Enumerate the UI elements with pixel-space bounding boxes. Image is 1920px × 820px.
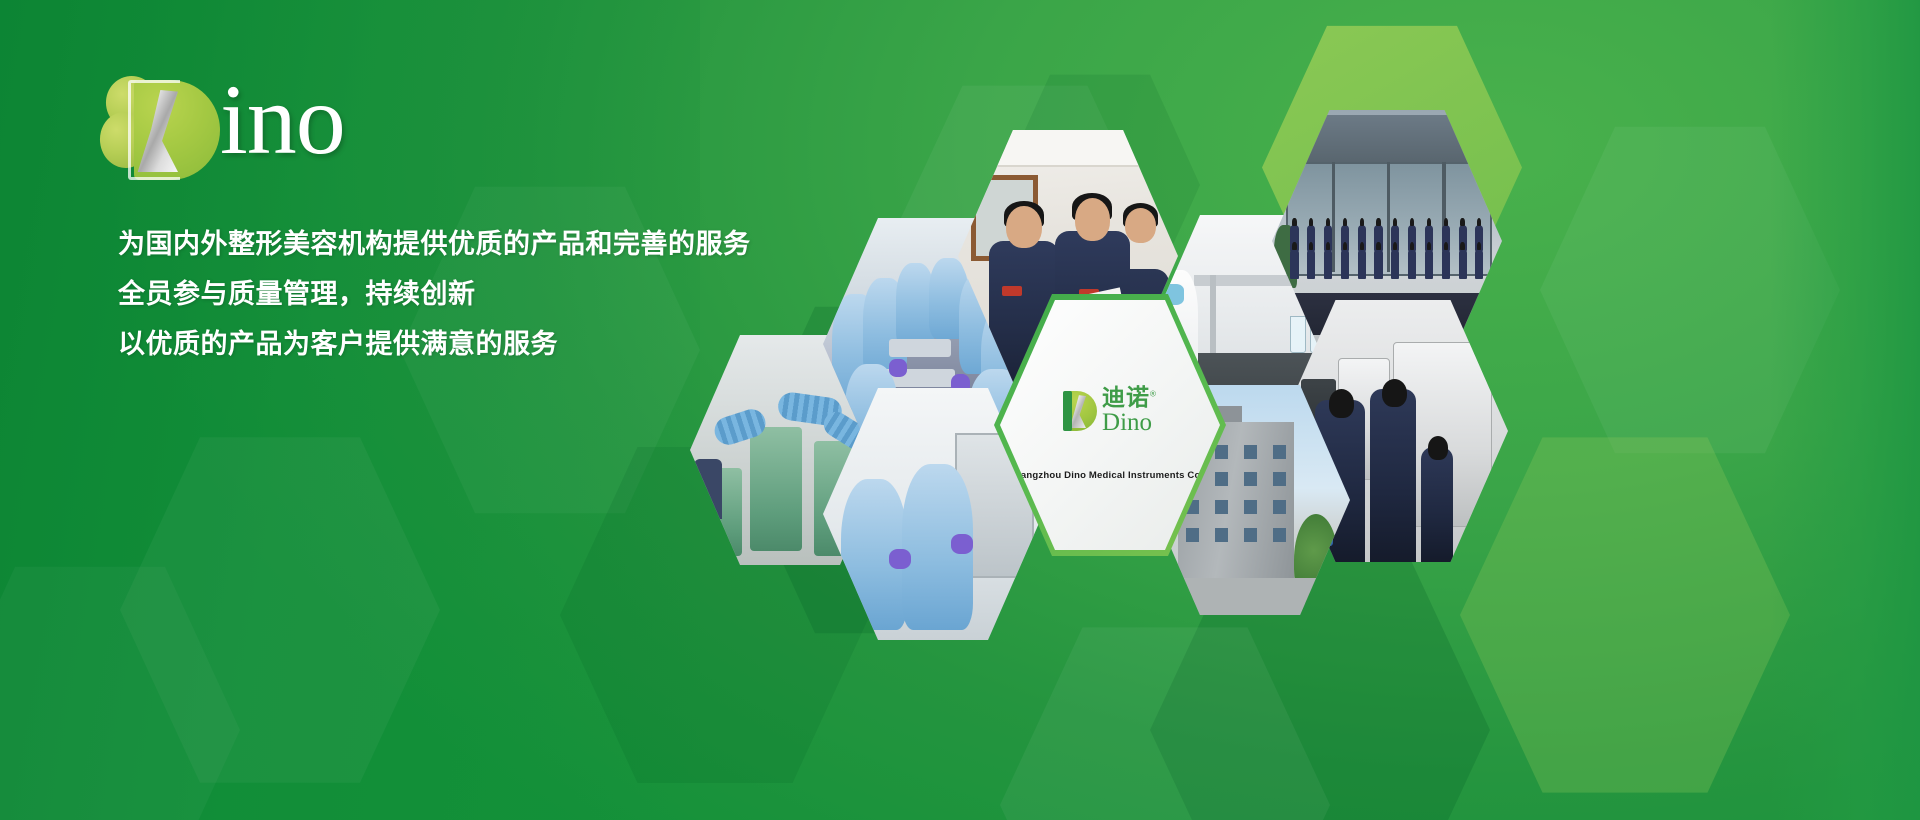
tagline-line-2: 全员参与质量管理，持续创新 [118, 272, 476, 311]
dino-mark-icon [1063, 391, 1097, 431]
tagline-line-1: 为国内外整形美容机构提供优质的产品和完善的服务 [118, 222, 751, 261]
center-badge-logo-cn: 迪诺® [1102, 386, 1157, 409]
center-badge-logo: 迪诺® Dino [1000, 386, 1220, 436]
brand-logo: ino [92, 68, 512, 183]
brand-wordmark: ino [220, 70, 345, 170]
center-badge-logo-en: Dino [1102, 410, 1152, 436]
registered-mark: ® [1150, 389, 1157, 398]
tagline-line-3: 以优质的产品为客户提供满意的服务 [118, 322, 558, 361]
dino-d-mark-icon [128, 80, 222, 180]
hero-banner: ino 为国内外整形美容机构提供优质的产品和完善的服务 全员参与质量管理，持续创… [0, 0, 1920, 820]
center-badge-caption: Hangzhou Dino Medical Instruments Co.. [1000, 470, 1220, 481]
